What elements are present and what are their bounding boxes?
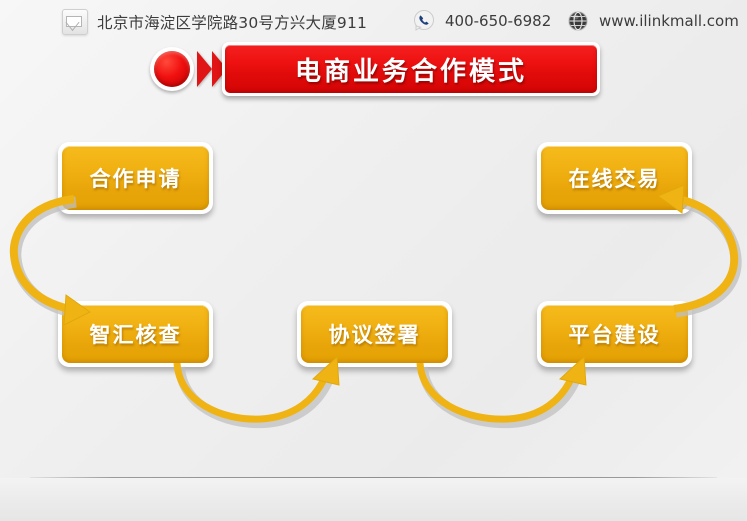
- footer-address: 北京市海淀区学院路30号方兴大厦911: [62, 9, 367, 35]
- process-box-fill: 在线交易: [541, 146, 688, 210]
- process-box-label: 合作申请: [90, 163, 182, 193]
- process-box-platform[interactable]: 平台建设: [537, 301, 692, 367]
- process-box-apply[interactable]: 合作申请: [58, 142, 213, 214]
- process-box-online[interactable]: 在线交易: [537, 142, 692, 214]
- process-box-label: 平台建设: [569, 319, 661, 349]
- process-box-verify[interactable]: 智汇核查: [58, 301, 213, 367]
- process-box-sign[interactable]: 协议签署: [297, 301, 452, 367]
- process-box-label: 在线交易: [569, 163, 661, 193]
- arrow-sign-to-platform: [408, 355, 593, 435]
- footer-phone-text: 400-650-6982: [445, 12, 551, 30]
- process-box-fill: 智汇核查: [62, 305, 209, 363]
- phone-bubble-icon: [412, 9, 436, 33]
- process-box-fill: 平台建设: [541, 305, 688, 363]
- process-box-label: 智汇核查: [90, 319, 182, 349]
- title-banner: 电商业务合作模式: [222, 42, 600, 96]
- process-box-fill: 合作申请: [62, 146, 209, 210]
- slide-canvas: 电商业务合作模式 合作申请 智汇核查 协议签署 平台建设 在线交易: [0, 0, 747, 521]
- footer-bar: [0, 478, 747, 521]
- footer-divider: [30, 477, 717, 478]
- globe-icon: [566, 9, 590, 33]
- page-title: 电商业务合作模式: [295, 51, 527, 88]
- process-box-fill: 协议签署: [301, 305, 448, 363]
- footer-website[interactable]: www.ilinkmall.com: [566, 9, 739, 33]
- process-box-label: 协议签署: [329, 319, 421, 349]
- chevron-right-icon: [197, 51, 212, 87]
- red-circle-icon: [150, 47, 194, 91]
- title-banner-fill: 电商业务合作模式: [225, 45, 597, 93]
- footer-website-text: www.ilinkmall.com: [599, 12, 739, 30]
- slide-title-group: 电商业务合作模式: [150, 40, 600, 98]
- envelope-icon: [62, 9, 88, 35]
- arrow-verify-to-sign: [165, 355, 345, 435]
- footer-address-text: 北京市海淀区学院路30号方兴大厦911: [97, 11, 367, 33]
- footer-phone: 400-650-6982: [412, 9, 551, 33]
